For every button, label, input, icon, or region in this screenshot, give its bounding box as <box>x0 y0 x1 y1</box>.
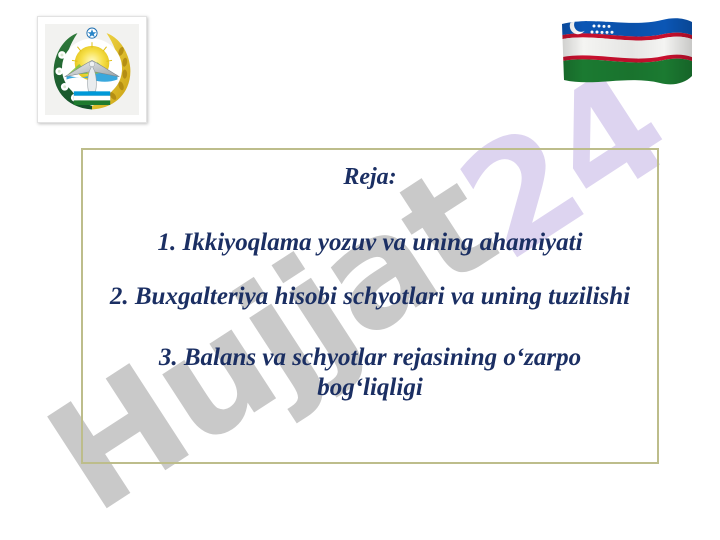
content-box-inner: Reja: 1. Ikkiyoqlama yozuv va uning aham… <box>83 150 657 404</box>
emblem-of-uzbekistan-icon <box>45 24 139 115</box>
content-box: Reja: 1. Ikkiyoqlama yozuv va uning aham… <box>81 148 659 464</box>
plan-item-3: 3. Balans va schyotlar rejasining o‘zarp… <box>105 343 635 404</box>
flag-of-uzbekistan <box>558 14 698 96</box>
flag-of-uzbekistan-icon <box>558 14 698 96</box>
emblem-of-uzbekistan-frame <box>37 16 147 123</box>
plan-item-1: 1. Ikkiyoqlama yozuv va uning ahamiyati <box>105 228 635 259</box>
spacer <box>105 258 635 282</box>
presentation-slide: Hujjat 24 <box>0 0 720 540</box>
spacer <box>105 313 635 343</box>
plan-item-2: 2. Buxgalteriya hisobi schyotlari va uni… <box>105 282 635 313</box>
spacer <box>105 198 635 228</box>
emblem-of-uzbekistan-image <box>45 24 139 115</box>
plan-title: Reja: <box>105 164 635 192</box>
